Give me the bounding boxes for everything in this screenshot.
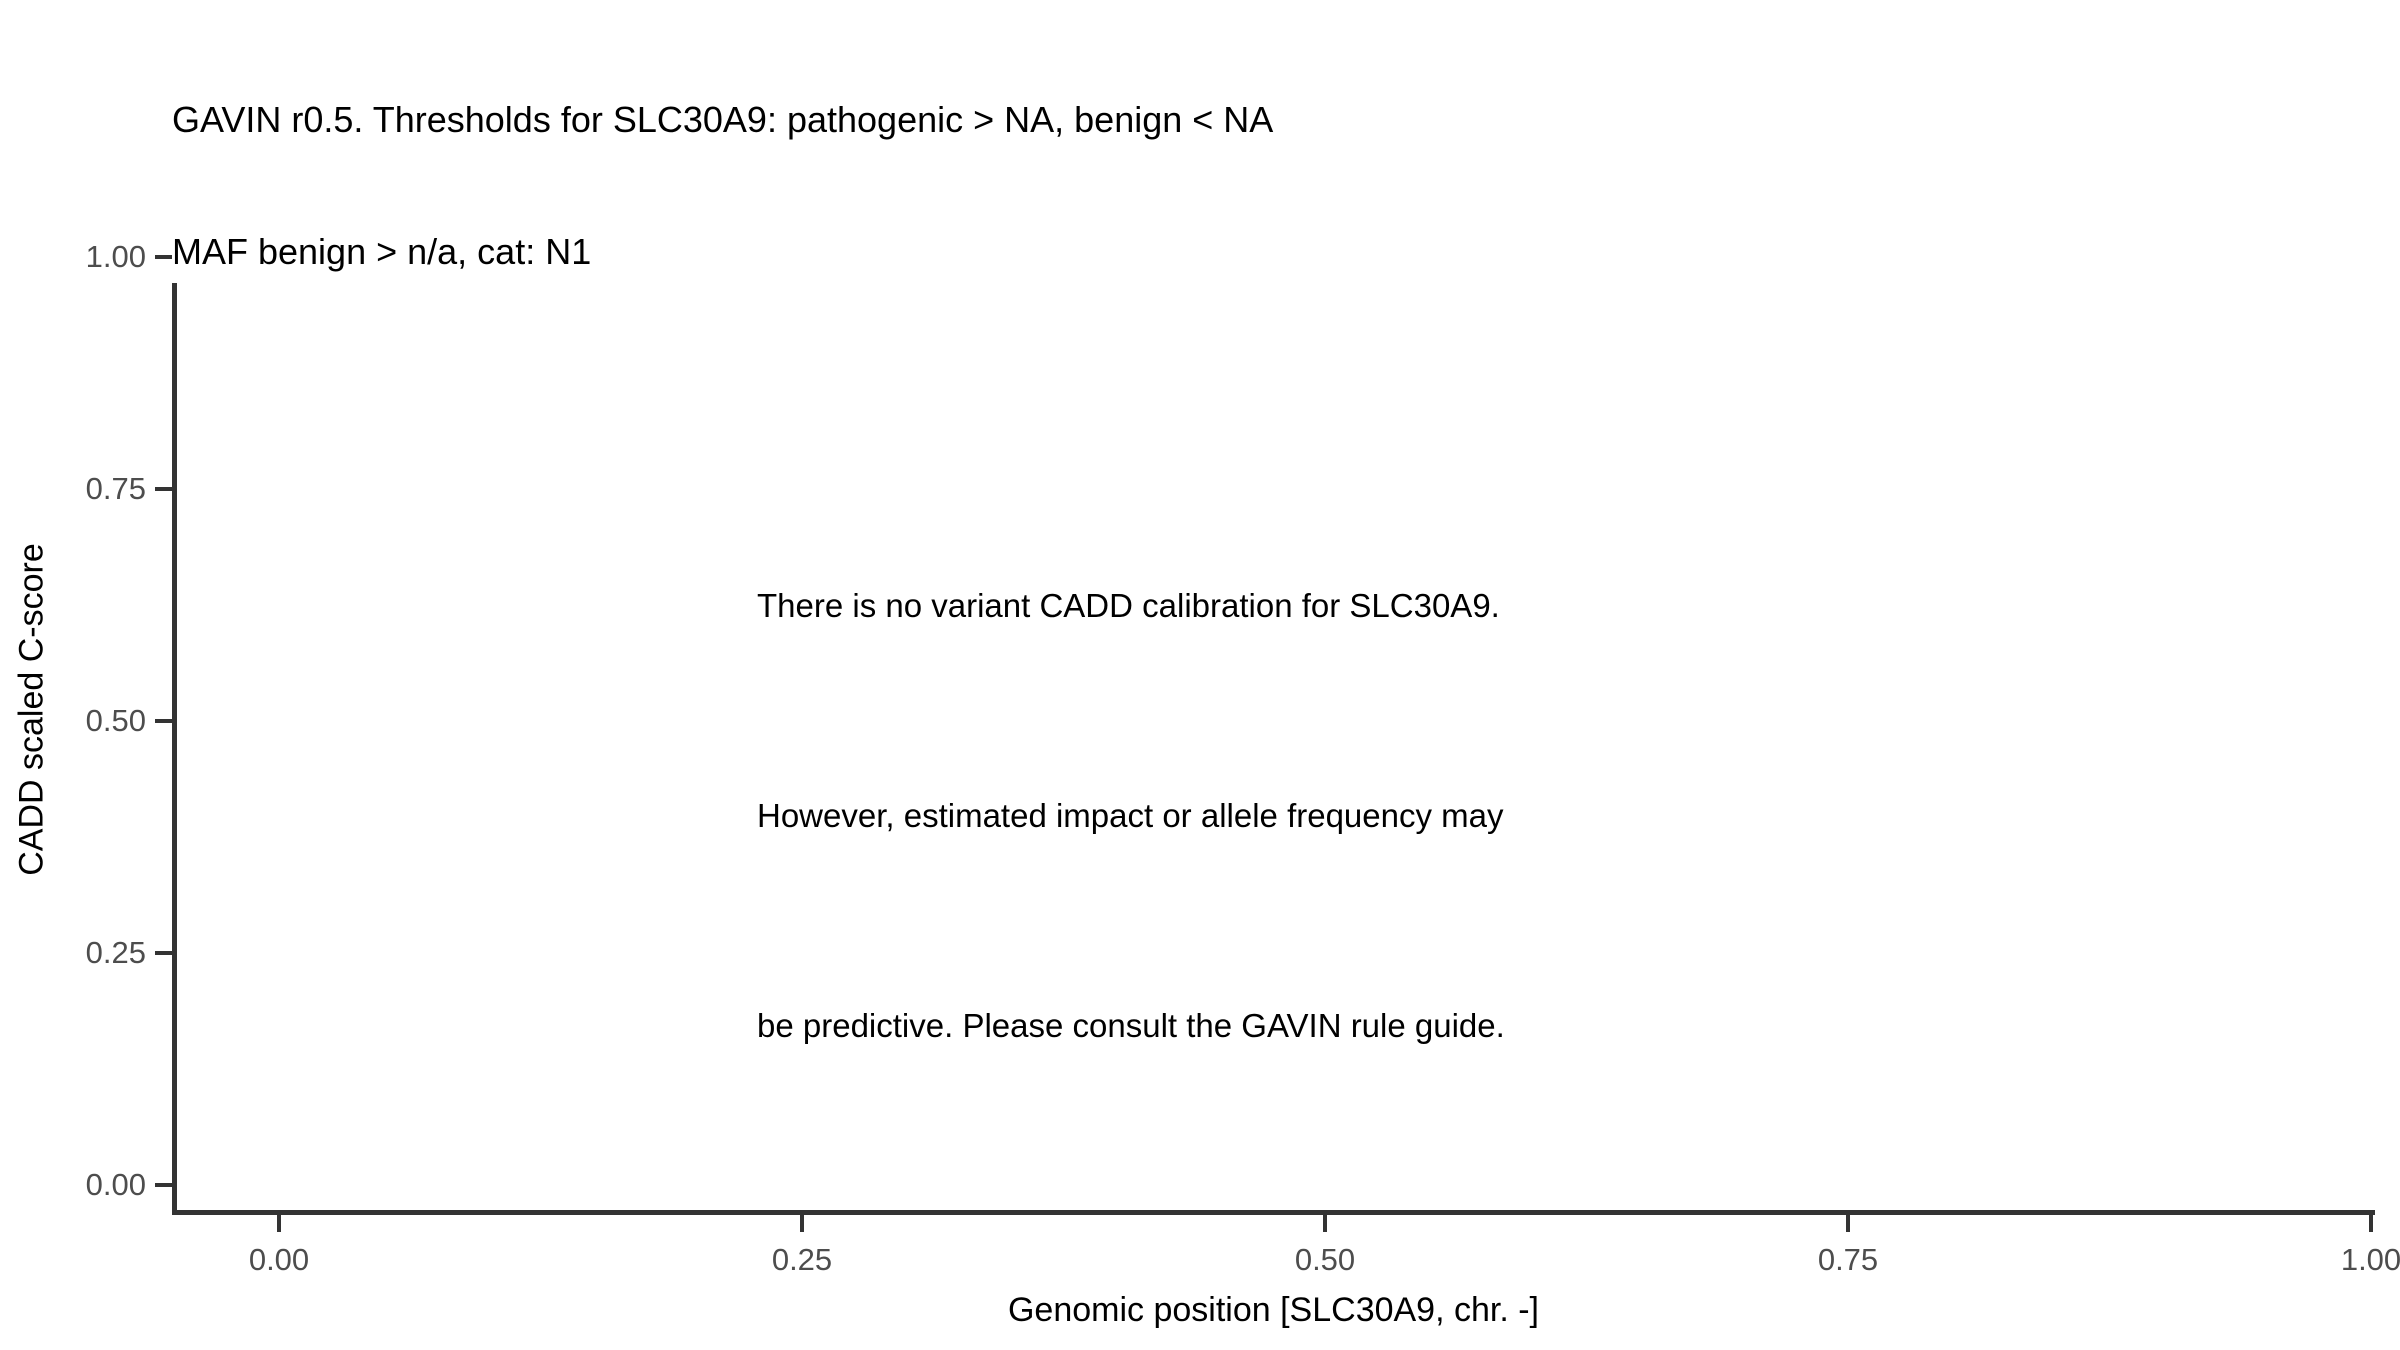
- x-tick-label-3: 0.75: [1818, 1242, 1878, 1278]
- x-tick-mark-1: [800, 1215, 804, 1232]
- x-axis-title: Genomic position [SLC30A9, chr. -]: [172, 1291, 2375, 1330]
- y-tick-label-0: 0.00: [86, 1167, 146, 1203]
- x-tick-label-0: 0.00: [249, 1242, 309, 1278]
- x-tick-mark-2: [1323, 1215, 1327, 1232]
- y-axis-title: CADD scaled C-score: [13, 450, 52, 970]
- chart-title-line-1: GAVIN r0.5. Thresholds for SLC30A9: path…: [172, 98, 2352, 142]
- chart-title-line-2: MAF benign > n/a, cat: N1: [172, 230, 2352, 274]
- plot-annotation-line-1: There is no variant CADD calibration for…: [757, 571, 1505, 641]
- x-tick-mark-3: [1846, 1215, 1850, 1232]
- x-tick-label-1: 0.25: [772, 1242, 832, 1278]
- x-axis-line: [172, 1210, 2375, 1215]
- y-axis-line: [172, 283, 177, 1215]
- y-tick-mark-0: [155, 1183, 172, 1187]
- plot-annotation-text: There is no variant CADD calibration for…: [757, 431, 1505, 1201]
- x-tick-label-4: 1.00: [2341, 1242, 2400, 1278]
- y-tick-mark-1: [155, 951, 172, 955]
- plot-annotation-line-3: be predictive. Please consult the GAVIN …: [757, 991, 1505, 1061]
- x-tick-mark-0: [277, 1215, 281, 1232]
- x-tick-label-2: 0.50: [1295, 1242, 1355, 1278]
- x-tick-mark-4: [2369, 1215, 2373, 1232]
- y-tick-label-3: 0.75: [86, 471, 146, 507]
- y-tick-mark-3: [155, 487, 172, 491]
- y-tick-mark-2: [155, 719, 172, 723]
- y-tick-mark-4: [155, 255, 172, 259]
- chart-figure: GAVIN r0.5. Thresholds for SLC30A9: path…: [0, 0, 2400, 1350]
- y-tick-label-2: 0.50: [86, 703, 146, 739]
- y-tick-label-4: 1.00: [86, 239, 146, 275]
- plot-annotation-line-2: However, estimated impact or allele freq…: [757, 781, 1505, 851]
- plot-panel: There is no variant CADD calibration for…: [172, 283, 2375, 1212]
- y-tick-label-1: 0.25: [86, 935, 146, 971]
